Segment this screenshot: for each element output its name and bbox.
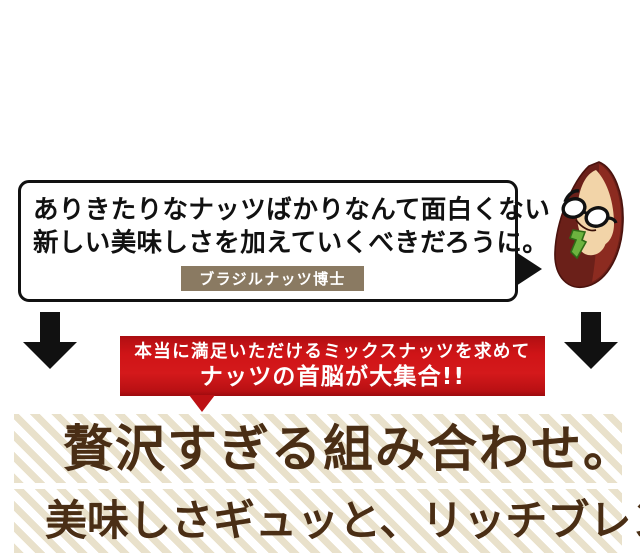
red-banner-line-2: ナッツの首脳が大集合!! (200, 363, 465, 391)
down-arrow-right (563, 312, 619, 370)
promo-graphic: ありきたりなナッツばかりなんて面白くない 新しい美味しさを加えていくべきだろうに… (0, 0, 640, 560)
headline-line-2: 美味しさギュッと、リッチブレンド (14, 493, 640, 549)
headline-band-1: 贅沢すぎる組み合わせ。 (14, 414, 622, 483)
brazil-nut-illustration (552, 160, 628, 290)
speech-bubble-text: ありきたりなナッツばかりなんて面白くない 新しい美味しさを加えていくべきだろうに… (33, 194, 505, 260)
brazil-nut-character (552, 160, 628, 290)
down-arrow-left (22, 312, 78, 370)
headline-band-2: 美味しさギュッと、リッチブレンド (14, 489, 622, 553)
red-banner-line-1: 本当に満足いただけるミックスナッツを求めて (134, 341, 530, 363)
red-banner-tail (189, 395, 215, 412)
down-arrow-icon (563, 312, 619, 370)
down-arrow-icon (22, 312, 78, 370)
red-banner: 本当に満足いただけるミックスナッツを求めて ナッツの首脳が大集合!! (120, 336, 545, 396)
speaker-name-badge: ブラジルナッツ博士 (181, 266, 364, 291)
speech-bubble-line-1: ありきたりなナッツばかりなんて面白くない (33, 194, 505, 227)
speech-bubble-line-2: 新しい美味しさを加えていくべきだろうに。 (33, 227, 505, 260)
headline-line-1: 贅沢すぎる組み合わせ。 (14, 418, 635, 480)
